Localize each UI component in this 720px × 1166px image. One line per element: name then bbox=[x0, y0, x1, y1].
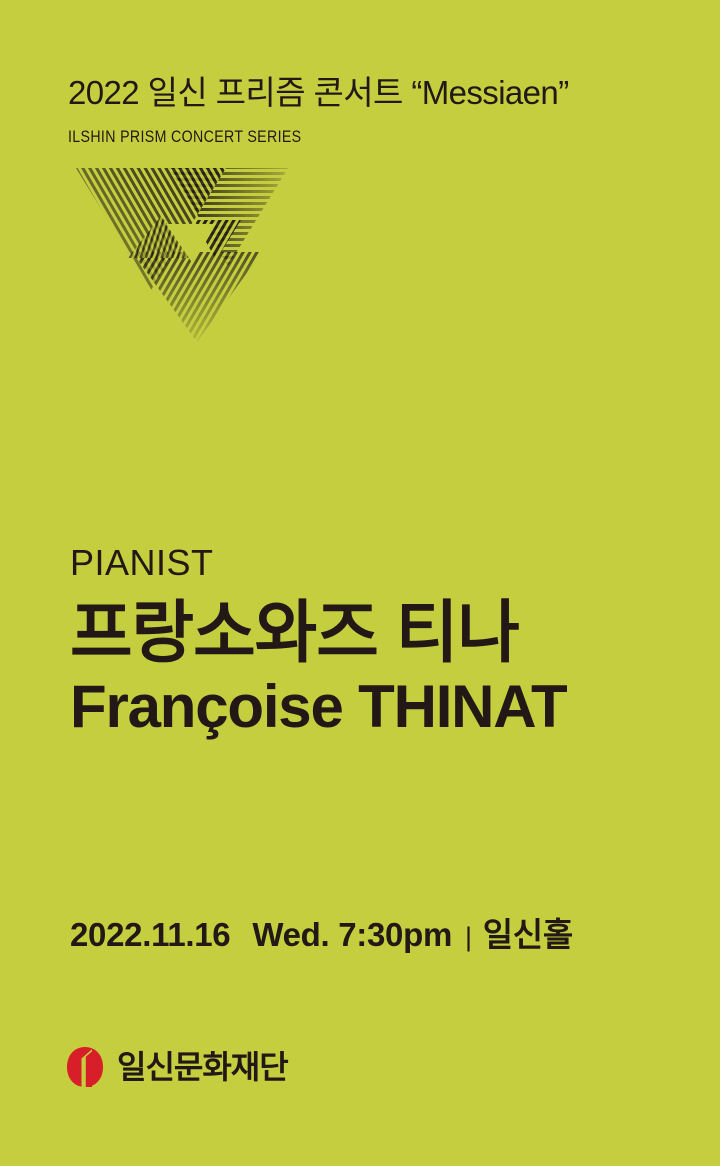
ilshin-foundation-mark-icon bbox=[66, 1046, 104, 1088]
foundation-name: 일신문화재단 bbox=[117, 1051, 288, 1083]
schedule-date: 2022.11.16 bbox=[70, 916, 230, 954]
concert-title: 2022 일신 프리즘 콘서트 “Messiaen” bbox=[68, 74, 668, 112]
artist-name-korean: 프랑소와즈 티나 bbox=[70, 597, 690, 670]
concert-poster: 2022 일신 프리즘 콘서트 “Messiaen” ILSHIN PRISM … bbox=[0, 0, 720, 1166]
poster-header: 2022 일신 프리즘 콘서트 “Messiaen” ILSHIN PRISM … bbox=[68, 74, 668, 147]
prism-triangle-icon bbox=[66, 160, 296, 345]
foundation-logo: 일신문화재단 bbox=[66, 1046, 288, 1088]
schedule-time: Wed. 7:30pm bbox=[252, 916, 452, 954]
performer-role-label: PIANIST bbox=[70, 545, 690, 581]
performer-block: PIANIST 프랑소와즈 티나 Françoise THINAT bbox=[70, 545, 690, 740]
schedule-line: 2022.11.16 Wed. 7:30pm | 일신홀 bbox=[70, 908, 573, 956]
artist-name-french: Françoise THINAT bbox=[70, 674, 690, 740]
schedule-venue: 일신홀 bbox=[483, 908, 573, 956]
series-label: ILSHIN PRISM CONCERT SERIES bbox=[68, 128, 584, 147]
schedule-separator: | bbox=[465, 922, 472, 953]
